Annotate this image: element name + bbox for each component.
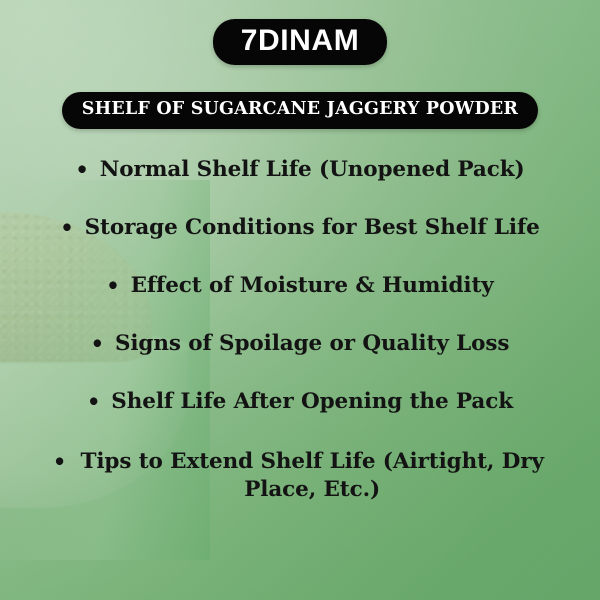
bullet-dot-icon: • xyxy=(75,156,88,183)
title-banner-pill: SHELF OF SUGARCANE JAGGERY POWDER xyxy=(62,92,538,129)
jaggery-shelf-life-poster: 7DINAM SHELF OF SUGARCANE JAGGERY POWDER… xyxy=(0,0,600,600)
topics-list: • Normal Shelf Life (Unopened Pack) • St… xyxy=(0,156,600,504)
brand-logo-pill: 7DINAM xyxy=(213,19,388,65)
list-item-label: Effect of Moisture & Humidity xyxy=(131,272,494,300)
list-item: • Shelf Life After Opening the Pack xyxy=(0,388,600,446)
list-item-label: Signs of Spoilage or Quality Loss xyxy=(115,330,509,358)
list-item: • Signs of Spoilage or Quality Loss xyxy=(0,330,600,388)
list-item: • Effect of Moisture & Humidity xyxy=(0,272,600,330)
bullet-dot-icon: • xyxy=(60,214,73,241)
list-item: • Normal Shelf Life (Unopened Pack) xyxy=(0,156,600,214)
list-item-label: Tips to Extend Shelf Life (Airtight, Dry… xyxy=(77,448,547,504)
bullet-dot-icon: • xyxy=(106,272,119,299)
list-item-label: Storage Conditions for Best Shelf Life xyxy=(85,214,540,242)
list-item-label: Normal Shelf Life (Unopened Pack) xyxy=(100,156,525,184)
list-item-label: Shelf Life After Opening the Pack xyxy=(111,388,513,416)
list-item: • Storage Conditions for Best Shelf Life xyxy=(0,214,600,272)
bullet-dot-icon: • xyxy=(53,448,66,475)
brand-logo-text: 7DINAM xyxy=(241,25,360,57)
poster-content: 7DINAM SHELF OF SUGARCANE JAGGERY POWDER… xyxy=(0,0,600,600)
bullet-dot-icon: • xyxy=(91,330,104,357)
bullet-dot-icon: • xyxy=(87,388,100,415)
poster-title: SHELF OF SUGARCANE JAGGERY POWDER xyxy=(82,100,518,120)
list-item: • Tips to Extend Shelf Life (Airtight, D… xyxy=(0,448,600,504)
